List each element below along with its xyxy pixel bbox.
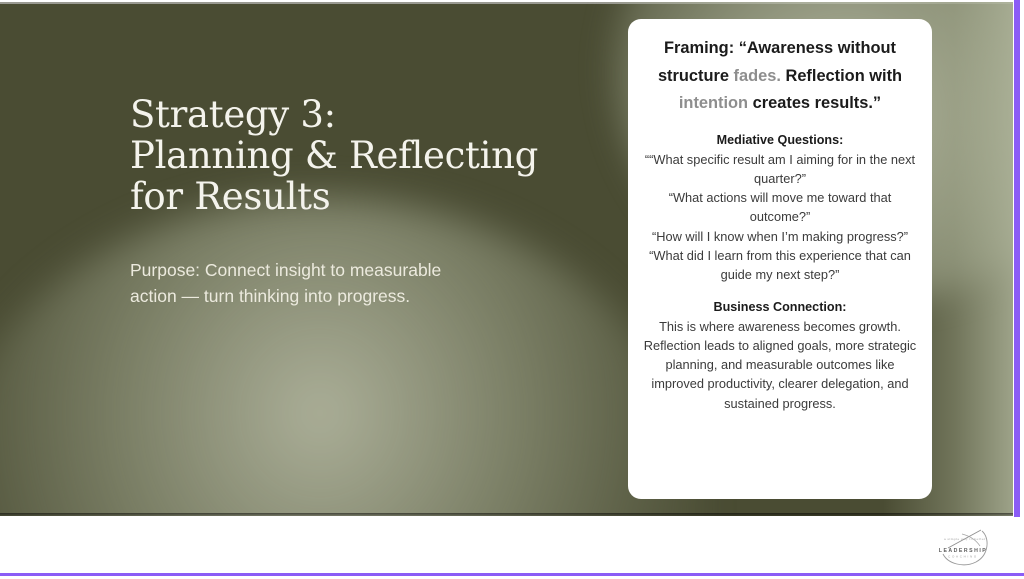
- left-text-column: Strategy 3: Planning & Reflecting for Re…: [130, 94, 550, 309]
- accent-bar-bottom: [0, 573, 1024, 576]
- business-connection-body: This is where awareness becomes growth. …: [642, 317, 918, 413]
- logo-subtext: COACHING: [948, 555, 978, 559]
- framing-bold-part-3: creates results.”: [748, 94, 881, 112]
- mediative-question-item: “How will I know when I’m making progres…: [643, 227, 917, 246]
- logo-script-text: a simple way to better: [944, 537, 986, 541]
- framing-soft-part-1: fades.: [734, 67, 781, 85]
- accent-bar-right: [1014, 0, 1020, 517]
- right-edge-white-margin: [1020, 0, 1024, 517]
- card-section-spacer: [642, 285, 918, 298]
- framing-soft-part-2: intention: [679, 94, 748, 112]
- logo-wordmark: LEADERSHIP: [939, 548, 987, 554]
- slide-canvas: Strategy 3: Planning & Reflecting for Re…: [0, 2, 1013, 516]
- mediative-question-item: “What actions will move me toward that o…: [643, 188, 917, 227]
- bottom-bar: a simple way to better LEADERSHIP COACHI…: [0, 517, 1024, 573]
- slide-purpose-text: Purpose: Connect insight to measurable a…: [130, 257, 475, 309]
- leadership-coaching-logo: a simple way to better LEADERSHIP COACHI…: [924, 522, 1002, 570]
- mediative-question-item: “What did I learn from this experience t…: [643, 246, 917, 285]
- slide-root: Strategy 3: Planning & Reflecting for Re…: [0, 0, 1024, 579]
- framing-bold-part-2: Reflection with: [781, 67, 902, 85]
- business-connection-paragraph: This is where awareness becomes growth. …: [643, 317, 917, 413]
- logo-mark-icon: a simple way to better LEADERSHIP COACHI…: [924, 522, 1002, 570]
- mediative-questions-list: ““What specific result am I aiming for i…: [642, 150, 918, 285]
- slide-bottom-shadow-line: [0, 513, 1013, 516]
- mediative-questions-heading: Mediative Questions:: [642, 131, 918, 149]
- content-card: Framing: “Awareness without structure fa…: [628, 19, 932, 499]
- mediative-question-item: ““What specific result am I aiming for i…: [643, 150, 917, 189]
- slide-title: Strategy 3: Planning & Reflecting for Re…: [130, 94, 550, 217]
- card-framing-quote: Framing: “Awareness without structure fa…: [642, 35, 918, 118]
- business-connection-heading: Business Connection:: [642, 298, 918, 316]
